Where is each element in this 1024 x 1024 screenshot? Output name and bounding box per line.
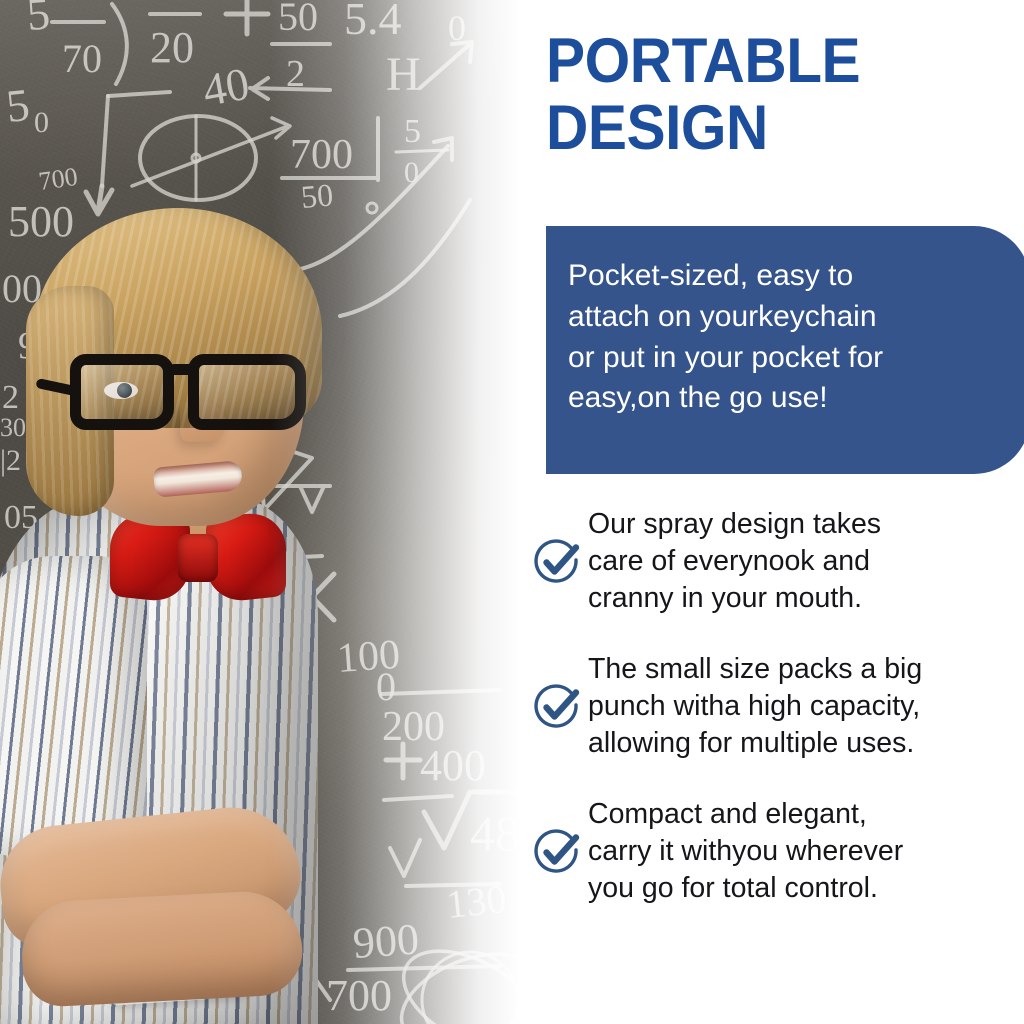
photo-top-fade xyxy=(0,0,520,1024)
product-photo: 5 70 20 50 2 5.4 0 5 0 700 500 00 400 9 xyxy=(0,0,520,1024)
infographic-canvas: 5 70 20 50 2 5.4 0 5 0 700 500 00 400 9 xyxy=(0,0,1024,1024)
page-title: PORTABLE DESIGN xyxy=(546,28,983,163)
content-panel: PORTABLE DESIGN Pocket-sized, easy to at… xyxy=(512,0,1024,1024)
list-item-label: Our spray design takes care of everynook… xyxy=(588,506,1024,617)
list-item: Compact and elegant, carry it withyou wh… xyxy=(526,796,1024,907)
list-item-label: Compact and elegant, carry it withyou wh… xyxy=(588,796,1024,907)
check-circle-icon xyxy=(526,536,588,588)
check-circle-icon xyxy=(526,681,588,733)
feature-list: Our spray design takes care of everynook… xyxy=(526,506,1024,907)
list-item: Our spray design takes care of everynook… xyxy=(526,506,1024,617)
list-item: The small size packs a big punch witha h… xyxy=(526,651,1024,762)
list-item-label: The small size packs a big punch witha h… xyxy=(588,651,1024,762)
callout-text: Pocket-sized, easy to attach on yourkeyc… xyxy=(568,256,960,419)
check-circle-icon xyxy=(526,826,588,878)
callout-box: Pocket-sized, easy to attach on yourkeyc… xyxy=(546,226,1024,474)
